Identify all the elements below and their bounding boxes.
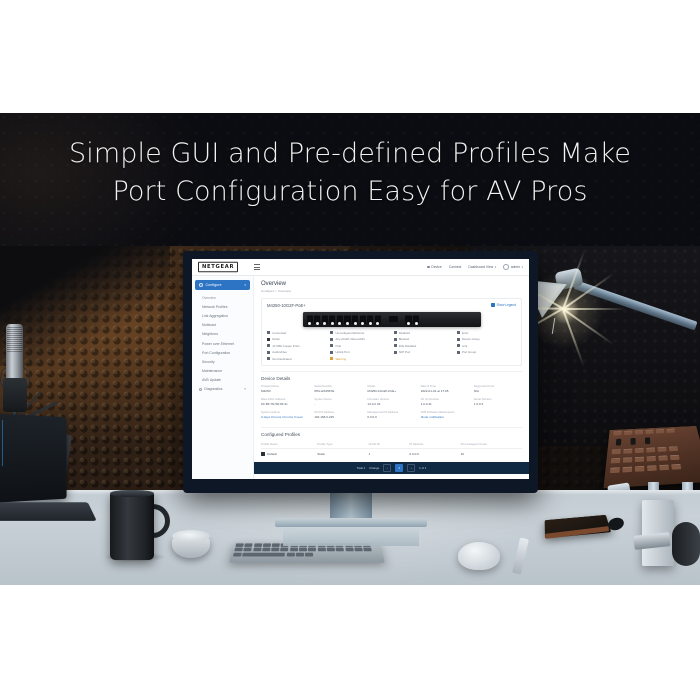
hero-banner: Simple GUI and Pre-defined Profiles Make… bbox=[0, 113, 700, 246]
topnav-label-device: Device bbox=[431, 265, 441, 269]
monitor-screen: NETGEAR Device Connect Dashboard View ▾ bbox=[192, 259, 529, 479]
legend-item: Any-AVoIP-Video-Multi bbox=[330, 337, 389, 341]
legend-item: Unconfigured Ethernet bbox=[330, 331, 389, 335]
legend-item: PoE Disabled bbox=[394, 344, 453, 348]
group-icon bbox=[457, 338, 460, 341]
account-label: admin bbox=[511, 265, 520, 269]
switch-port-3[interactable] bbox=[322, 315, 328, 324]
sidebar-item-link-aggregation[interactable]: Link Aggregation bbox=[195, 311, 250, 320]
detail-field: Firmware Version13.0.2.32 bbox=[367, 397, 415, 406]
table-row[interactable]: Default Static 1 0.0.0.0 10 bbox=[261, 449, 522, 459]
portgroup-icon bbox=[457, 351, 460, 354]
row-checkbox[interactable] bbox=[261, 452, 265, 456]
legend-item: Error bbox=[457, 331, 516, 335]
headline-line-2: Port Configuration Easy for AV Pros bbox=[0, 173, 700, 211]
microphone-grille bbox=[7, 326, 22, 352]
uplink-icon bbox=[330, 351, 333, 354]
sfp-icon bbox=[394, 351, 397, 354]
detail-field: Management IP Address0.0.0.0 bbox=[367, 410, 415, 419]
detail-field: AVB Software MaintenanceMode notificatio… bbox=[421, 410, 522, 419]
switch-sfp-port-2[interactable] bbox=[405, 315, 411, 324]
link-icon bbox=[457, 344, 460, 347]
diagnostics-icon bbox=[199, 388, 202, 391]
laptop-waveform bbox=[0, 420, 4, 466]
sidebar-item-neighbors[interactable]: Neighbors bbox=[195, 330, 250, 339]
detail-field: AV Up Number1.0.0.41 bbox=[421, 397, 469, 406]
sidebar-label-diagnostics: Diagnostics bbox=[204, 387, 222, 391]
profiles-table-header: Profile Name Profile Type VLAN ID IP Add… bbox=[261, 440, 522, 449]
detail-field: Date & Time2022-01-01 at 17:05 bbox=[421, 384, 469, 393]
bottom-whitespace bbox=[0, 585, 700, 700]
device-details-grid: Product NameM4250 Serial Number6HA123456… bbox=[261, 384, 522, 419]
breadcrumb: Configure > Overview bbox=[261, 289, 522, 293]
copper-icon bbox=[267, 344, 270, 347]
topnav-item-device[interactable]: Device bbox=[427, 265, 441, 269]
switch-sfp-port-1[interactable] bbox=[389, 316, 398, 323]
midi-mixer bbox=[604, 426, 700, 488]
legend-square-icon bbox=[491, 303, 494, 306]
cell-profile-type: Static bbox=[317, 452, 368, 456]
hero-headline: Simple GUI and Pre-defined Profiles Make… bbox=[0, 135, 700, 212]
dante-icon bbox=[267, 338, 270, 341]
chevron-down-icon: ▾ bbox=[521, 265, 523, 269]
device-details-title: Device Details bbox=[261, 376, 522, 381]
monitor-stand-base bbox=[275, 518, 427, 527]
column-header-profile-name: Profile Name bbox=[261, 442, 317, 446]
pagination-next-button[interactable]: › bbox=[407, 464, 415, 471]
switch-port-9[interactable] bbox=[367, 315, 373, 324]
switch-port-2[interactable] bbox=[314, 315, 320, 324]
legend-item: 10 GBit Copper Ports bbox=[267, 344, 326, 348]
legend-item: AudioVideo bbox=[267, 350, 326, 354]
microphone-mount-base bbox=[3, 378, 27, 412]
switch-front-panel[interactable] bbox=[303, 312, 481, 327]
pagination-current-page[interactable]: 1 bbox=[395, 464, 403, 471]
detail-field: IPv4 IP Address192.168.0.239 bbox=[314, 410, 362, 419]
connected-icon bbox=[267, 331, 270, 334]
computer-mouse bbox=[458, 542, 500, 570]
app-top-bar: NETGEAR Device Connect Dashboard View ▾ bbox=[192, 259, 529, 276]
app-body: Configure ▾ Overview Network Profiles Li… bbox=[192, 276, 529, 479]
legend-item: Link bbox=[457, 344, 516, 348]
laptop-base bbox=[0, 502, 97, 521]
avoip-icon bbox=[330, 338, 333, 341]
legend-item: Device Group bbox=[457, 337, 516, 341]
legend-item: Port Group bbox=[457, 350, 516, 354]
user-circle-icon bbox=[503, 264, 509, 270]
chevron-down-icon: ▾ bbox=[495, 265, 497, 269]
pagination-total: Total 1 bbox=[357, 466, 366, 470]
laptop-screen bbox=[0, 410, 67, 506]
coffee-mug bbox=[110, 492, 154, 560]
account-menu[interactable]: admin ▾ bbox=[503, 264, 523, 270]
chevron-down-icon: ▾ bbox=[244, 283, 246, 287]
sidebar-item-diagnostics[interactable]: Diagnostics ▾ bbox=[195, 385, 250, 394]
studio-desk-photo: NETGEAR Device Connect Dashboard View ▾ bbox=[0, 246, 700, 585]
cell-port-assigned-count: 10 bbox=[461, 452, 522, 456]
desktop-monitor: NETGEAR Device Connect Dashboard View ▾ bbox=[183, 251, 538, 493]
poe-off-icon bbox=[394, 344, 397, 347]
legend-item: Blocked bbox=[394, 337, 453, 341]
netgear-logo: NETGEAR bbox=[198, 262, 238, 273]
detail-field: System Uptime0 days 0 hours 13 mins 3 se… bbox=[261, 410, 309, 419]
cell-ip-address: 0.0.0.0 bbox=[409, 452, 460, 456]
legend-item: Non-Dedicated bbox=[267, 357, 326, 361]
top-bar-right: Device Connect Dashboard View ▾ admin bbox=[427, 264, 523, 270]
poe-icon bbox=[330, 344, 333, 347]
topnav-item-dashboard-view[interactable]: Dashboard View ▾ bbox=[468, 265, 496, 269]
monitor-stand-foot bbox=[283, 526, 419, 546]
nondedicated-icon bbox=[267, 357, 270, 360]
sidebar-label-configure: Configure bbox=[206, 283, 222, 287]
column-header-ip-address: IP Address bbox=[409, 442, 460, 446]
legend-item: SFP Port bbox=[394, 350, 453, 354]
configured-profiles-title: Configured Profiles bbox=[261, 432, 522, 437]
cell-vlan-id: 1 bbox=[368, 452, 409, 456]
error-icon bbox=[457, 331, 460, 334]
legend-item: Uplink Port bbox=[330, 350, 389, 354]
sidebar-item-network-profiles[interactable]: Network Profiles bbox=[195, 302, 250, 311]
marketing-image: Simple GUI and Pre-defined Profiles Make… bbox=[0, 0, 700, 700]
switch-port-5[interactable] bbox=[337, 315, 343, 324]
chevron-down-icon: ▾ bbox=[244, 387, 246, 391]
pagination-prev-button[interactable]: ‹ bbox=[383, 464, 391, 471]
smart-speaker-top bbox=[172, 530, 210, 542]
switch-port-10[interactable] bbox=[375, 315, 381, 324]
legend-item: Disabled bbox=[394, 331, 453, 335]
switch-port-1[interactable] bbox=[307, 315, 313, 324]
switch-port-8[interactable] bbox=[360, 315, 366, 324]
sidebar-item-overview[interactable]: Overview bbox=[195, 293, 250, 302]
sidebar-item-maintenance[interactable]: Maintenance bbox=[195, 367, 250, 376]
mug-rim bbox=[110, 490, 154, 497]
headline-line-1: Simple GUI and Pre-defined Profiles Make bbox=[69, 138, 631, 169]
pagination-of-label: 1 of 1 bbox=[419, 466, 426, 470]
sidebar-item-security[interactable]: Security bbox=[195, 357, 250, 366]
pagination-page-size[interactable]: Change bbox=[369, 466, 379, 470]
device-model-label: M4250-10G2F-PoE+ bbox=[267, 303, 306, 308]
column-header-vlan-id: VLAN ID bbox=[368, 442, 409, 446]
detail-field: Supported PortsN/A bbox=[474, 384, 522, 393]
detail-field: Serial Number1.0.0.3 bbox=[474, 397, 522, 406]
main-content: Overview Configure > Overview M4250-10G2… bbox=[254, 276, 529, 479]
headphones bbox=[672, 522, 700, 566]
gear-icon bbox=[199, 283, 203, 287]
topnav-item-connect[interactable]: Connect bbox=[449, 265, 462, 269]
device-dot-icon bbox=[427, 266, 430, 269]
topnav-label-dashboard: Dashboard View bbox=[468, 265, 493, 269]
column-header-port-assigned-count: Port Assigned Count bbox=[461, 442, 522, 446]
table-pagination: Total 1 Change ‹ 1 › 1 of 1 bbox=[254, 462, 529, 474]
sidebar: Configure ▾ Overview Network Profiles Li… bbox=[192, 276, 254, 479]
show-legend-label: Show Legend bbox=[497, 303, 517, 307]
column-header-profile-type: Profile Type bbox=[317, 442, 368, 446]
cell-profile-name: Default bbox=[267, 452, 277, 456]
blocked-icon bbox=[394, 338, 397, 341]
flare-ray-1 bbox=[563, 308, 625, 310]
detail-field: Product NameM4250 bbox=[261, 384, 309, 393]
device-overview-card: M4250-10G2F-PoE+ Show Legend bbox=[261, 298, 522, 366]
topnav-label-connect: Connect bbox=[449, 265, 462, 269]
sidebar-item-power-over-ethernet[interactable]: Power over Ethernet bbox=[195, 339, 250, 348]
disabled-icon bbox=[394, 331, 397, 334]
device-details-card: Device Details Product NameM4250 Serial … bbox=[261, 371, 522, 423]
sidebar-item-port-configuration[interactable]: Port Configuration bbox=[195, 348, 250, 357]
sidebar-item-multicast[interactable]: Multicast bbox=[195, 321, 250, 330]
port-legend-grid: Connected Unconfigured Ethernet Disabled… bbox=[267, 331, 516, 361]
show-legend-button[interactable]: Show Legend bbox=[491, 303, 516, 307]
switch-sfp-port-3[interactable] bbox=[413, 315, 419, 324]
detail-field: System Name- bbox=[314, 397, 362, 406]
configured-profiles-card: Configured Profiles Profile Name Profile… bbox=[261, 427, 522, 473]
sidebar-item-avb-update[interactable]: AVB Update bbox=[195, 376, 250, 385]
page-title: Overview bbox=[261, 281, 522, 287]
detail-field: Base MAC Address9C:BF:7E:5D:84:3c bbox=[261, 397, 309, 406]
audiovideo-icon bbox=[267, 351, 270, 354]
legend-item: Connected bbox=[267, 331, 326, 335]
legend-item: Dante bbox=[267, 337, 326, 341]
sidebar-item-configure[interactable]: Configure ▾ bbox=[195, 280, 250, 290]
switch-port-7[interactable] bbox=[352, 315, 358, 324]
ethernet-icon bbox=[330, 331, 333, 334]
switch-port-4[interactable] bbox=[329, 315, 335, 324]
detail-field: Serial Number6HA1234567E bbox=[314, 384, 362, 393]
warning-icon bbox=[330, 357, 333, 360]
detail-field: ModelM4250-10G2F-PoE+ bbox=[367, 384, 415, 393]
legend-item: Warning bbox=[330, 357, 389, 361]
device-card-header: M4250-10G2F-PoE+ Show Legend bbox=[267, 303, 516, 308]
legend-item: PoE bbox=[330, 344, 389, 348]
hamburger-icon[interactable] bbox=[254, 263, 260, 271]
switch-port-6[interactable] bbox=[344, 315, 350, 324]
